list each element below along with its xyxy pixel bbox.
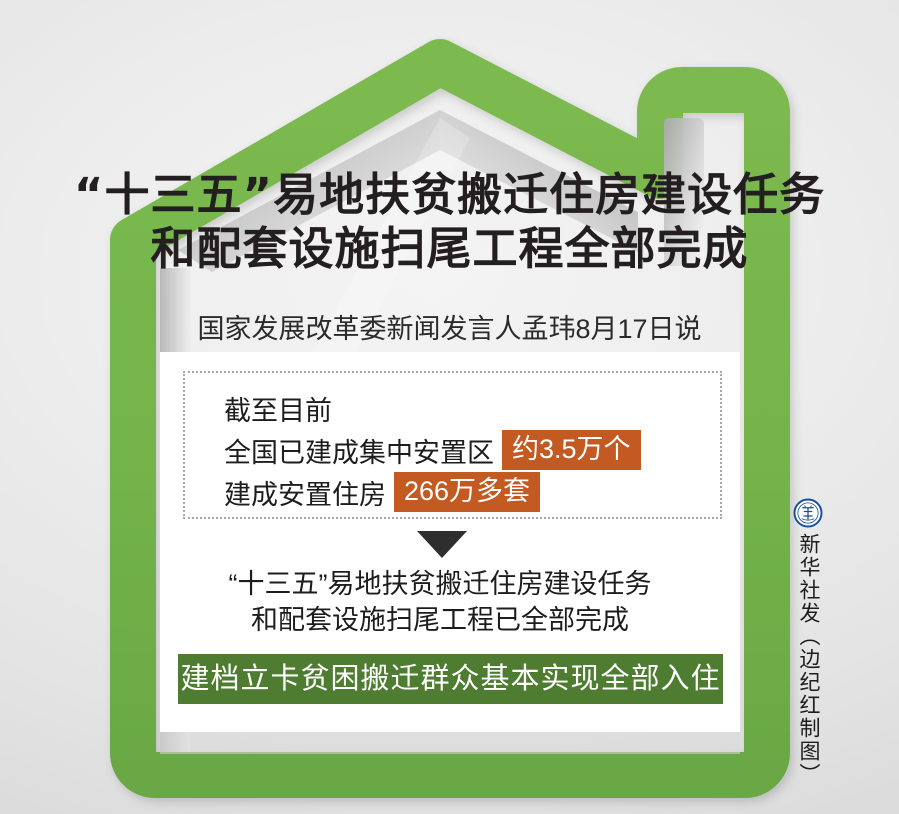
conclusion-text: “十三五”易地扶贫搬迁住房建设任务 和配套设施扫尾工程已全部完成 <box>140 566 740 638</box>
conclusion-line-2: 和配套设施扫尾工程已全部完成 <box>140 602 740 638</box>
credit-text: 新华社发（边纪红制图） <box>796 533 820 786</box>
triangle-down-icon <box>417 531 467 558</box>
stat-row: 建成安置住房 266万多套 <box>224 471 720 513</box>
page-title: “十三五”易地扶贫搬迁住房建设任务 和配套设施扫尾工程全部完成 <box>0 168 899 276</box>
stats-panel-inner: 截至目前 全国已建成集中安置区 约3.5万个 建成安置住房 266万多套 <box>185 373 720 513</box>
title-line-1: “十三五”易地扶贫搬迁住房建设任务 <box>0 168 899 222</box>
stats-intro-label: 截至目前 <box>224 389 332 428</box>
subtitle-source: 国家发展改革委新闻发言人孟玮8月17日说 <box>0 312 899 346</box>
result-banner-text: 建档立卡贫困搬迁群众基本实现全部入住 <box>180 662 720 696</box>
infographic-canvas: “十三五”易地扶贫搬迁住房建设任务 和配套设施扫尾工程全部完成 国家发展改革委新… <box>0 0 899 814</box>
stats-panel: 截至目前 全国已建成集中安置区 约3.5万个 建成安置住房 266万多套 <box>183 371 722 519</box>
stat-label-1: 全国已建成集中安置区 <box>224 431 494 470</box>
stat-highlight-2: 266万多套 <box>394 472 540 512</box>
credit-block: 新华社发（边纪红制图） <box>786 498 830 786</box>
xinhua-seal-icon <box>793 498 823 528</box>
stat-row: 全国已建成集中安置区 约3.5万个 <box>224 429 720 471</box>
stat-label-2: 建成安置住房 <box>224 473 386 512</box>
conclusion-line-1: “十三五”易地扶贫搬迁住房建设任务 <box>140 566 740 602</box>
title-line-2: 和配套设施扫尾工程全部完成 <box>0 222 899 276</box>
result-banner: 建档立卡贫困搬迁群众基本实现全部入住 <box>178 654 723 704</box>
stat-highlight-1: 约3.5万个 <box>502 430 641 470</box>
stats-intro-row: 截至目前 <box>224 387 720 429</box>
